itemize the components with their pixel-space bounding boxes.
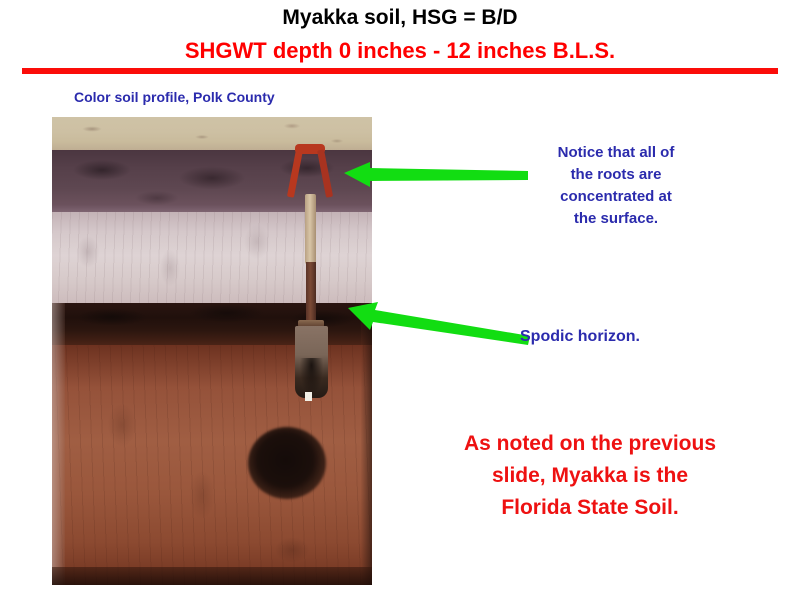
arrow-to-roots-icon xyxy=(344,160,528,190)
shovel xyxy=(284,144,338,406)
soil-profile-photo xyxy=(52,117,372,585)
shovel-shaft xyxy=(306,262,316,324)
annotation-roots-line-3: concentrated at xyxy=(516,186,716,208)
annotation-spodic-horizon: Spodic horizon. xyxy=(520,326,730,348)
note-previous-slide: As noted on the previous slide, Myakka i… xyxy=(410,428,770,524)
note-previous-slide-line-3: Florida State Soil. xyxy=(410,492,770,524)
pit-floor xyxy=(52,567,372,585)
dark-root-blob xyxy=(248,427,326,499)
shovel-handle-left-arm xyxy=(287,149,303,197)
pit-wall-left xyxy=(52,303,65,585)
shovel-handle-right-arm xyxy=(317,149,333,197)
annotation-roots: Notice that all of the roots are concent… xyxy=(516,142,716,230)
page-title: Myakka soil, HSG = B/D xyxy=(0,6,800,30)
arrow-to-spodic-horizon-icon xyxy=(348,302,530,350)
annotation-roots-line-4: the surface. xyxy=(516,208,716,230)
title-divider-rule xyxy=(22,68,778,74)
shovel-tag xyxy=(305,392,312,401)
page-subtitle: SHGWT depth 0 inches - 12 inches B.L.S. xyxy=(0,38,800,64)
annotation-roots-line-1: Notice that all of xyxy=(516,142,716,164)
note-previous-slide-line-1: As noted on the previous xyxy=(410,428,770,460)
photo-caption: Color soil profile, Polk County xyxy=(74,89,275,105)
note-previous-slide-line-2: slide, Myakka is the xyxy=(410,460,770,492)
arrow-to-roots xyxy=(344,160,528,190)
shovel-blade-shadow xyxy=(300,358,323,396)
annotation-roots-line-2: the roots are xyxy=(516,164,716,186)
shovel-wood-grip xyxy=(305,194,316,264)
arrow-to-spodic-horizon xyxy=(348,302,530,350)
